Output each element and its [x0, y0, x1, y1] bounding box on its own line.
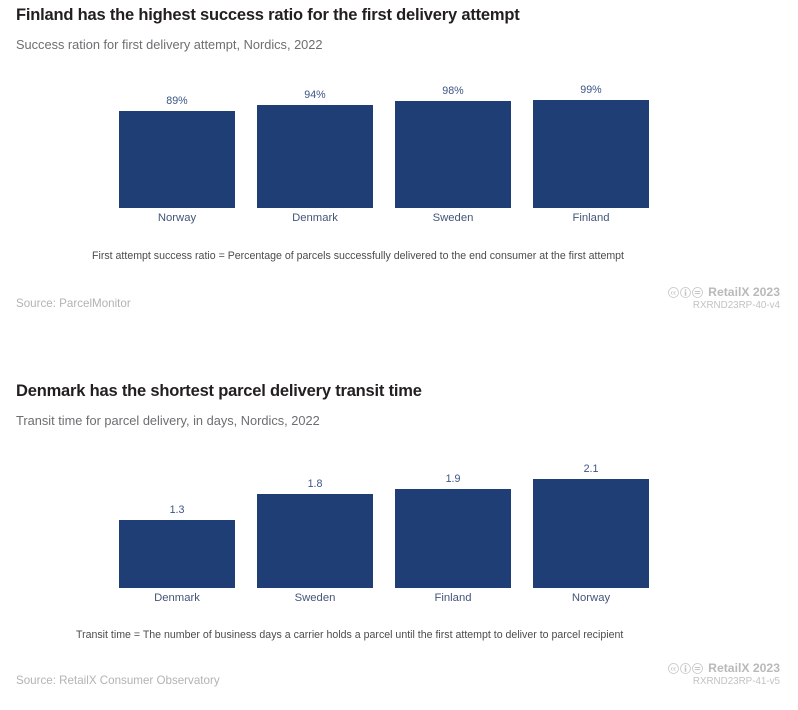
bar-value-label: 94% — [257, 89, 373, 101]
creative-commons-by-icon — [680, 663, 691, 674]
bar-category-label: Sweden — [257, 592, 373, 604]
bar-category-label: Norway — [533, 592, 649, 604]
bar-group-norway: 2.1 — [533, 463, 649, 588]
bar-chart-plot-area: 89%Norway94%Denmark98%Sweden99%Finland — [119, 88, 671, 208]
creative-commons-icon-group: cc — [668, 287, 703, 298]
chart-footnote: First attempt success ratio = Percentage… — [92, 250, 624, 262]
bar[interactable] — [257, 105, 373, 208]
creative-commons-icon: cc — [668, 663, 679, 674]
bar[interactable] — [119, 111, 235, 208]
bar-group-norway: 89% — [119, 88, 235, 208]
svg-text:cc: cc — [671, 290, 677, 296]
bar-group-sweden: 98% — [395, 88, 511, 208]
bar-category-label: Norway — [119, 212, 235, 224]
credit-code: RXRND23RP-40-v4 — [668, 300, 780, 311]
credit-label: RetailX 2023 — [708, 285, 780, 299]
chart-panel-first-delivery-attempt: Finland has the highest success ratio fo… — [0, 0, 798, 355]
bar-category-label: Finland — [533, 212, 649, 224]
creative-commons-nd-icon — [692, 663, 703, 674]
bar-group-denmark: 94% — [257, 88, 373, 208]
creative-commons-by-icon — [680, 287, 691, 298]
bar-value-label: 89% — [119, 95, 235, 107]
chart-subtitle: Transit time for parcel delivery, in day… — [16, 413, 320, 428]
bar[interactable] — [533, 479, 649, 588]
bar-value-label: 99% — [533, 84, 649, 96]
bar-category-label: Sweden — [395, 212, 511, 224]
bar-value-label: 1.8 — [257, 478, 373, 490]
creative-commons-icon-group: cc — [668, 663, 703, 674]
bar-category-label: Finland — [395, 592, 511, 604]
credit-label: RetailX 2023 — [708, 661, 780, 675]
chart-source: Source: RetailX Consumer Observatory — [16, 674, 220, 687]
bar[interactable] — [257, 494, 373, 588]
bar[interactable] — [533, 100, 649, 208]
bar-group-finland: 99% — [533, 88, 649, 208]
bar-category-label: Denmark — [257, 212, 373, 224]
bar-category-label: Denmark — [119, 592, 235, 604]
bar[interactable] — [119, 520, 235, 588]
creative-commons-icon: cc — [668, 287, 679, 298]
bar-group-denmark: 1.3 — [119, 463, 235, 588]
chart-credit: cc RetailX 2023 RXRND23RP-40-v4 — [668, 285, 780, 311]
bar-chart-plot-area: 1.3Denmark1.8Sweden1.9Finland2.1Norway — [119, 463, 671, 588]
bar-value-label: 2.1 — [533, 463, 649, 475]
credit-code: RXRND23RP-41-v5 — [668, 676, 780, 687]
creative-commons-nd-icon — [692, 287, 703, 298]
chart-source: Source: ParcelMonitor — [16, 297, 131, 310]
credit-line: cc RetailX 2023 — [668, 285, 780, 299]
bar[interactable] — [395, 489, 511, 588]
bar-value-label: 98% — [395, 85, 511, 97]
chart-subtitle: Success ration for first delivery attemp… — [16, 37, 323, 52]
chart-panel-transit-time: Denmark has the shortest parcel delivery… — [0, 355, 798, 710]
chart-credit: cc RetailX 2023 RXRND23RP-41-v5 — [668, 661, 780, 687]
bar[interactable] — [395, 101, 511, 208]
svg-text:cc: cc — [671, 666, 677, 672]
chart-title: Finland has the highest success ratio fo… — [16, 6, 520, 25]
bar-group-sweden: 1.8 — [257, 463, 373, 588]
credit-line: cc RetailX 2023 — [668, 661, 780, 675]
chart-title: Denmark has the shortest parcel delivery… — [16, 382, 422, 401]
chart-footnote: Transit time = The number of business da… — [76, 629, 623, 641]
bar-group-finland: 1.9 — [395, 463, 511, 588]
bar-value-label: 1.3 — [119, 504, 235, 516]
bar-value-label: 1.9 — [395, 473, 511, 485]
